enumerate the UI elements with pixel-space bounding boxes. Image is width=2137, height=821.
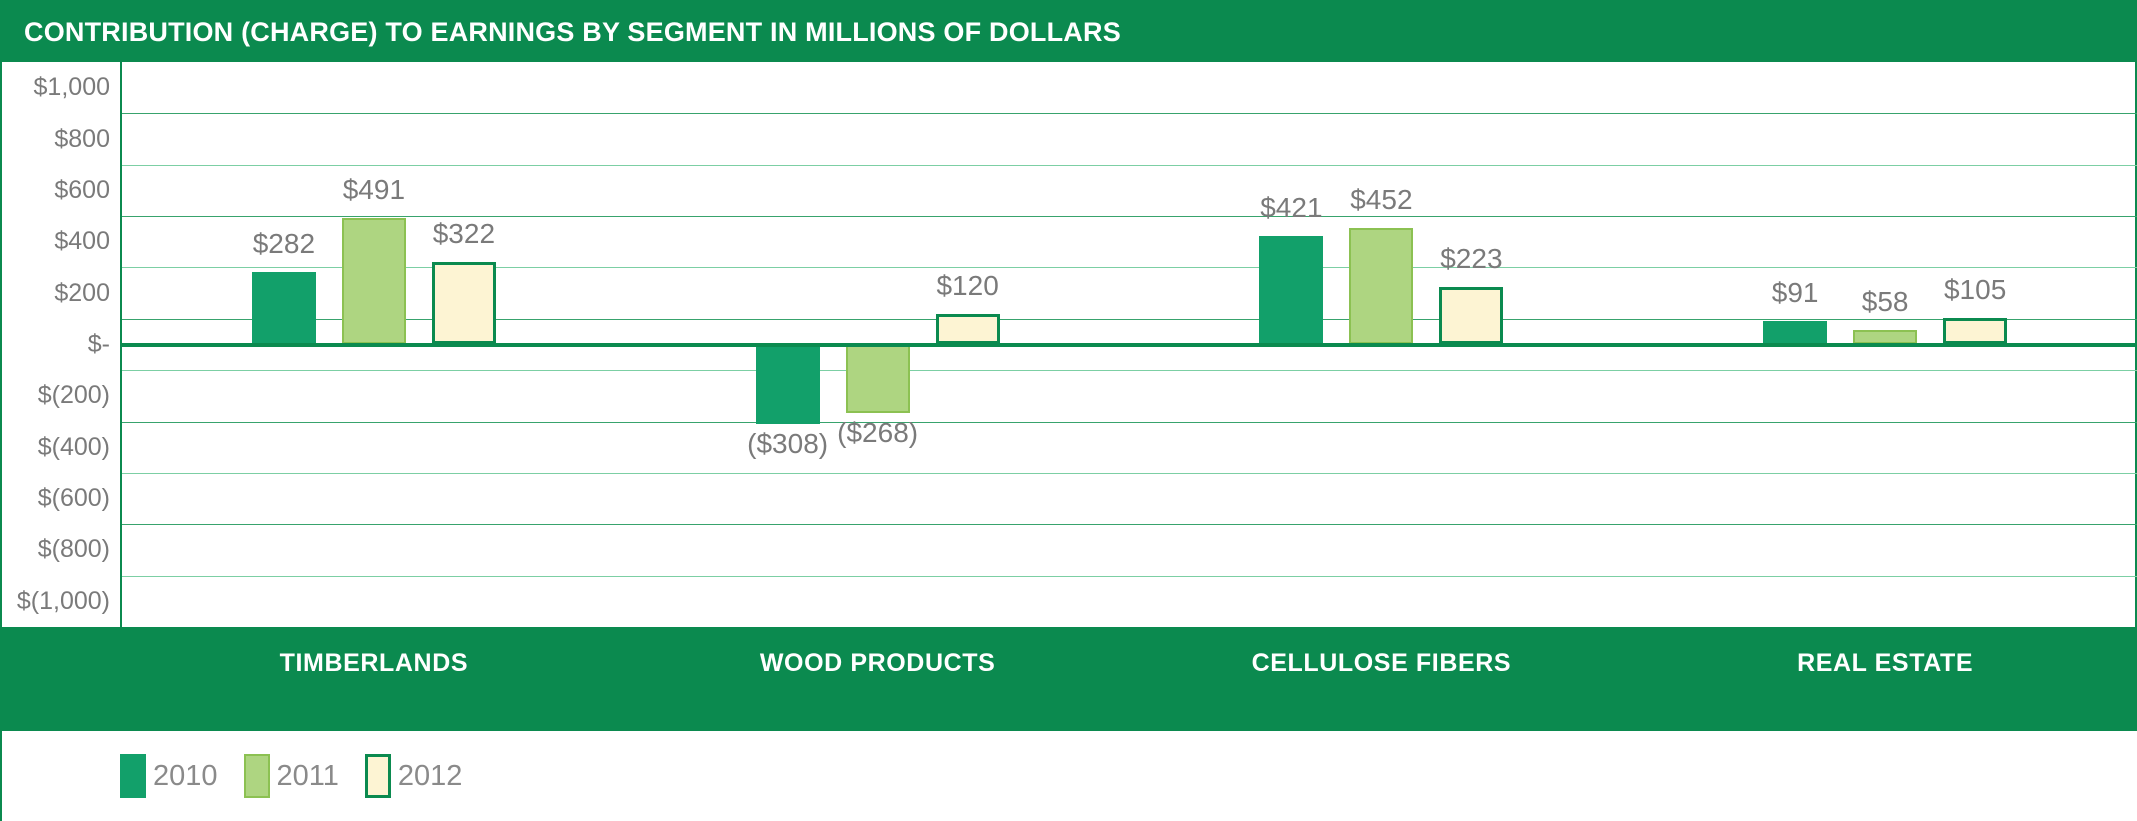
bar-2012-wood-products[interactable] — [936, 314, 1000, 345]
y-axis-tick-label: $400 — [2, 216, 110, 267]
legend-label: 2010 — [153, 760, 218, 793]
category-label-wood-products: WOOD PRODUCTS — [760, 649, 996, 678]
bar-2010-wood-products[interactable] — [756, 345, 820, 424]
y-axis-tick-label: $(1,000) — [2, 576, 110, 627]
y-axis-tick-label: $(800) — [2, 524, 110, 575]
bar-value-label: ($268) — [837, 417, 918, 449]
bar-2011-cellulose-fibers[interactable] — [1349, 228, 1413, 344]
bar-2011-timberlands[interactable] — [342, 218, 406, 344]
legend-item-2010[interactable]: 2010 — [120, 754, 218, 798]
y-axis-tick-label: $(200) — [2, 370, 110, 421]
bar-value-label: $91 — [1772, 277, 1819, 309]
bar-2012-timberlands[interactable] — [432, 262, 496, 345]
legend-item-2011[interactable]: 2011 — [244, 754, 339, 798]
bar-value-label: $421 — [1260, 192, 1322, 224]
plot-shell: $1,000$800$600$400$200$-$(200)$(400)$(60… — [2, 62, 2137, 627]
bar-value-label: $223 — [1440, 243, 1502, 275]
legend-item-2012[interactable]: 2012 — [365, 754, 463, 798]
bar-value-label: $58 — [1862, 286, 1909, 318]
category-axis-bar: TIMBERLANDSWOOD PRODUCTSCELLULOSE FIBERS… — [2, 627, 2137, 731]
bar-value-label: $452 — [1350, 184, 1412, 216]
bar-value-label: ($308) — [747, 428, 828, 460]
y-axis-tick-label: $800 — [2, 113, 110, 164]
bar-2012-real-estate[interactable] — [1943, 318, 2007, 345]
category-label-cellulose-fibers: CELLULOSE FIBERS — [1252, 649, 1512, 678]
legend-swatch-icon — [365, 754, 391, 798]
bar-value-label: $120 — [936, 270, 998, 302]
y-axis: $1,000$800$600$400$200$-$(200)$(400)$(60… — [2, 62, 122, 627]
y-axis-tick-label: $600 — [2, 165, 110, 216]
bar-2010-real-estate[interactable] — [1763, 321, 1827, 344]
bar-2010-cellulose-fibers[interactable] — [1259, 236, 1323, 344]
chart-title-bar: CONTRIBUTION (CHARGE) TO EARNINGS BY SEG… — [2, 2, 2137, 62]
bar-value-label: $491 — [343, 174, 405, 206]
plot-area: $282$491$322($308)($268)$120$421$452$223… — [122, 62, 2137, 627]
bar-2010-timberlands[interactable] — [252, 272, 316, 344]
legend-swatch-icon — [244, 754, 270, 798]
chart-root: CONTRIBUTION (CHARGE) TO EARNINGS BY SEG… — [0, 0, 2137, 821]
y-axis-tick-label: $- — [2, 319, 110, 370]
bar-value-label: $322 — [433, 218, 495, 250]
legend-label: 2011 — [277, 760, 339, 793]
category-label-timberlands: TIMBERLANDS — [280, 649, 469, 678]
zero-baseline — [122, 343, 2137, 347]
legend-label: 2012 — [398, 760, 463, 793]
category-label-real-estate: REAL ESTATE — [1797, 649, 1973, 678]
page-title: CONTRIBUTION (CHARGE) TO EARNINGS BY SEG… — [2, 17, 1121, 48]
bar-value-label: $105 — [1944, 274, 2006, 306]
legend-swatch-icon — [120, 754, 146, 798]
bar-value-label: $282 — [253, 228, 315, 260]
y-axis-tick-label: $(600) — [2, 473, 110, 524]
y-axis-tick-label: $1,000 — [2, 62, 110, 113]
y-axis-tick-label: $200 — [2, 267, 110, 318]
bar-2011-wood-products[interactable] — [846, 345, 910, 414]
y-axis-tick-label: $(400) — [2, 422, 110, 473]
chart-legend: 201020112012 — [2, 731, 2137, 821]
bar-2012-cellulose-fibers[interactable] — [1439, 287, 1503, 344]
